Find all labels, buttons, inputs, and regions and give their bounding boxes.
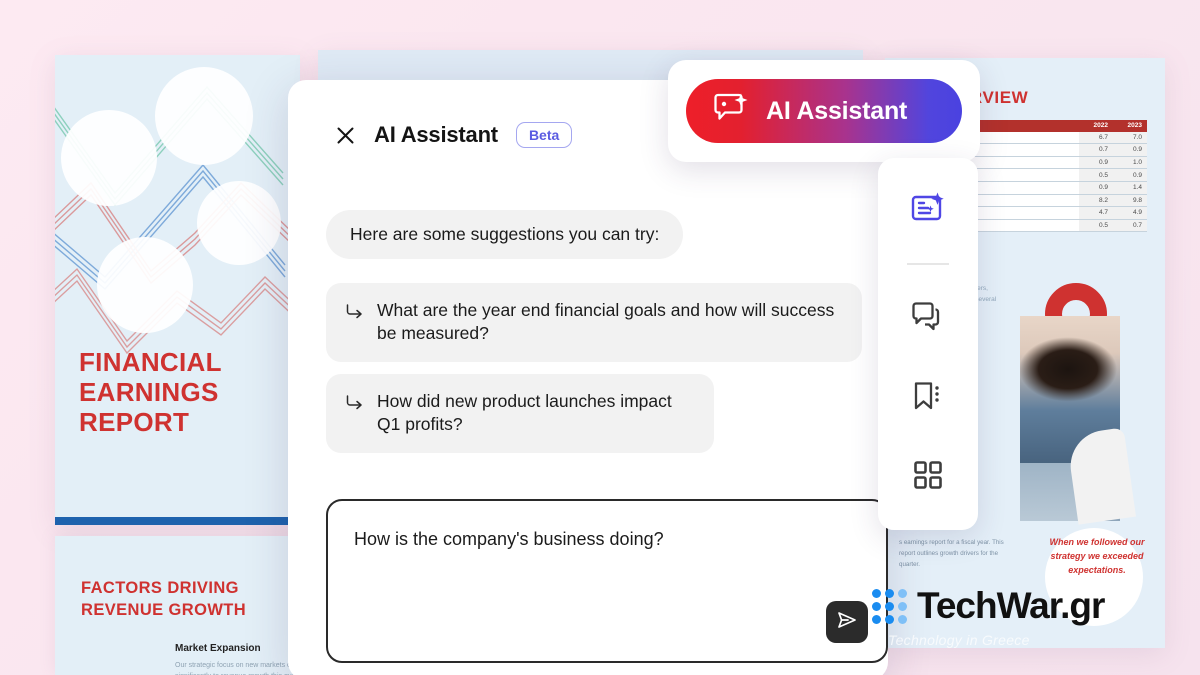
table-cell-value: 0.7 [1079,144,1113,157]
watermark: TechWar.gr [872,585,1104,627]
zigzag-decoration [55,55,300,355]
watermark-text: TechWar.gr [917,585,1104,627]
table-cell-value: 0.5 [1079,169,1113,182]
table-cell-value: 4.7 [1079,207,1113,220]
document-toolbar [878,158,978,530]
table-cell-value: 8.2 [1079,194,1113,207]
toolbar-item-bookmarks[interactable] [900,372,956,425]
person-photo [1020,316,1120,521]
ai-document-sparkle-icon [910,192,946,229]
assistant-intro-message: Here are some suggestions you can try: [326,210,683,259]
ai-assistant-pill-card: AI Assistant [668,60,980,162]
toolbar-item-apps-grid[interactable] [900,451,956,504]
table-cell-value: 7.0 [1113,132,1147,144]
document-financial-earnings-report[interactable]: FINANCIAL EARNINGS REPORT QUARTERLY REPO… [55,55,300,525]
pull-quote: When we followed our strategy we exceede… [1043,536,1151,578]
suggestion-chip-1[interactable]: What are the year end financial goals an… [326,283,862,362]
arrow-turn-down-right-icon [346,394,363,437]
ai-assistant-button[interactable]: AI Assistant [686,79,962,143]
table-cell-value: 6.7 [1079,132,1113,144]
document-factors-driving-revenue-growth[interactable]: FACTORS DRIVING REVENUE GROWTH Market Ex… [55,536,300,675]
table-cell-value: 0.7 [1113,219,1147,232]
toolbar-item-comments[interactable] [900,293,956,346]
ai-chat-sparkle-icon [712,92,750,131]
toolbar-item-ai-summary[interactable] [900,184,956,237]
ai-assistant-button-label: AI Assistant [766,97,907,126]
composer-input-value[interactable]: How is the company's business doing? [354,529,824,550]
send-button[interactable] [826,601,868,643]
panel-title: AI Assistant [374,122,498,148]
document-title: FINANCIAL EARNINGS REPORT [79,347,222,437]
comments-icon [911,301,945,338]
close-icon[interactable] [334,124,356,146]
table-cell-value: 0.5 [1079,219,1113,232]
table-col-2022: 2022 [1079,120,1113,132]
suggestion-text: What are the year end financial goals an… [377,299,840,346]
ai-assistant-panel: AI Assistant Beta Here are some suggesti… [288,80,888,675]
table-cell-value: 0.9 [1079,181,1113,194]
grid-icon [913,460,943,495]
message-composer[interactable]: How is the company's business doing? [326,499,888,663]
body-text-3: s earnings report for a fiscal year. Thi… [899,538,1019,571]
table-cell-value: 0.9 [1079,156,1113,169]
beta-badge[interactable]: Beta [516,122,572,148]
table-cell-value: 1.4 [1113,181,1147,194]
section-item-heading: Market Expansion [175,643,261,654]
table-col-2023: 2023 [1113,120,1147,132]
arrow-turn-down-right-icon [346,303,363,346]
send-icon [836,609,858,636]
suggestion-text: How did new product launches impact Q1 p… [377,390,692,437]
watermark-tagline: Technology in Greece [888,632,1030,648]
section-title: FACTORS DRIVING REVENUE GROWTH [81,578,246,622]
table-cell-value: 9.8 [1113,194,1147,207]
toolbar-separator [907,263,949,264]
table-cell-value: 0.9 [1113,144,1147,157]
table-cell-value: 4.9 [1113,207,1147,220]
table-cell-value: 1.0 [1113,156,1147,169]
screenshot-stage: FINANCIAL EARNINGS REPORT QUARTERLY REPO… [0,0,1200,675]
techwar-logo-icon [872,589,907,624]
suggestion-chip-2[interactable]: How did new product launches impact Q1 p… [326,374,714,453]
bookmark-list-icon [911,380,945,417]
section-item-body: Our strategic focus on new markets contr… [175,661,300,675]
table-cell-value: 0.9 [1113,169,1147,182]
quarterly-report-band: QUARTERLY REPORT [55,517,300,525]
